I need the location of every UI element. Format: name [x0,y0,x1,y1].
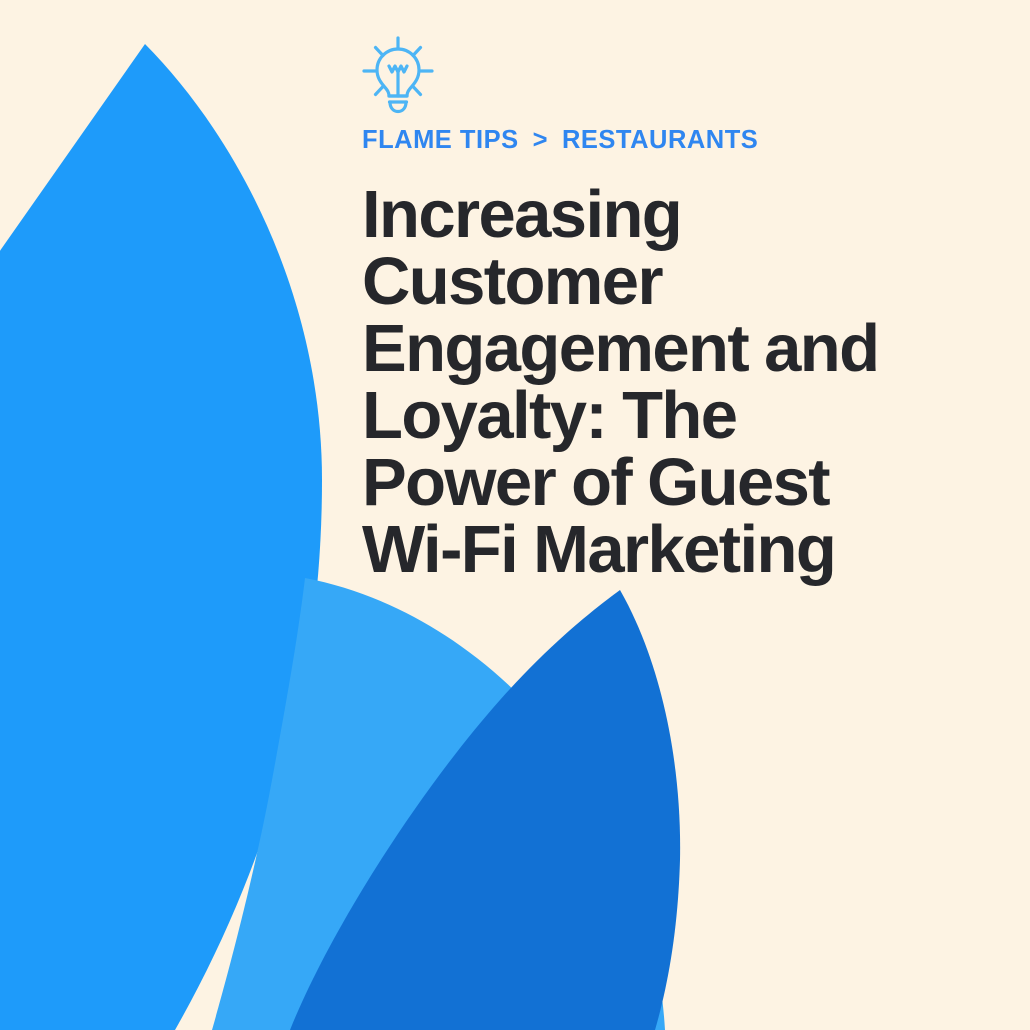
poster-canvas: FLAME TIPS > RESTAURANTS Increasing Cust… [0,0,1030,1030]
breadcrumb-item-flame-tips[interactable]: FLAME TIPS [362,128,519,154]
lightbulb-icon [362,36,434,114]
lightbulb-ray-lower-left [376,87,384,95]
lightbulb-ray-lower-right [413,87,421,95]
breadcrumb: FLAME TIPS > RESTAURANTS [362,128,962,154]
breadcrumb-item-restaurants[interactable]: RESTAURANTS [562,128,758,154]
page-title: Increasing Customer Engagement and Loyal… [362,181,942,583]
poster-content: FLAME TIPS > RESTAURANTS Increasing Cust… [362,36,962,627]
breadcrumb-separator-icon: > [533,128,548,154]
